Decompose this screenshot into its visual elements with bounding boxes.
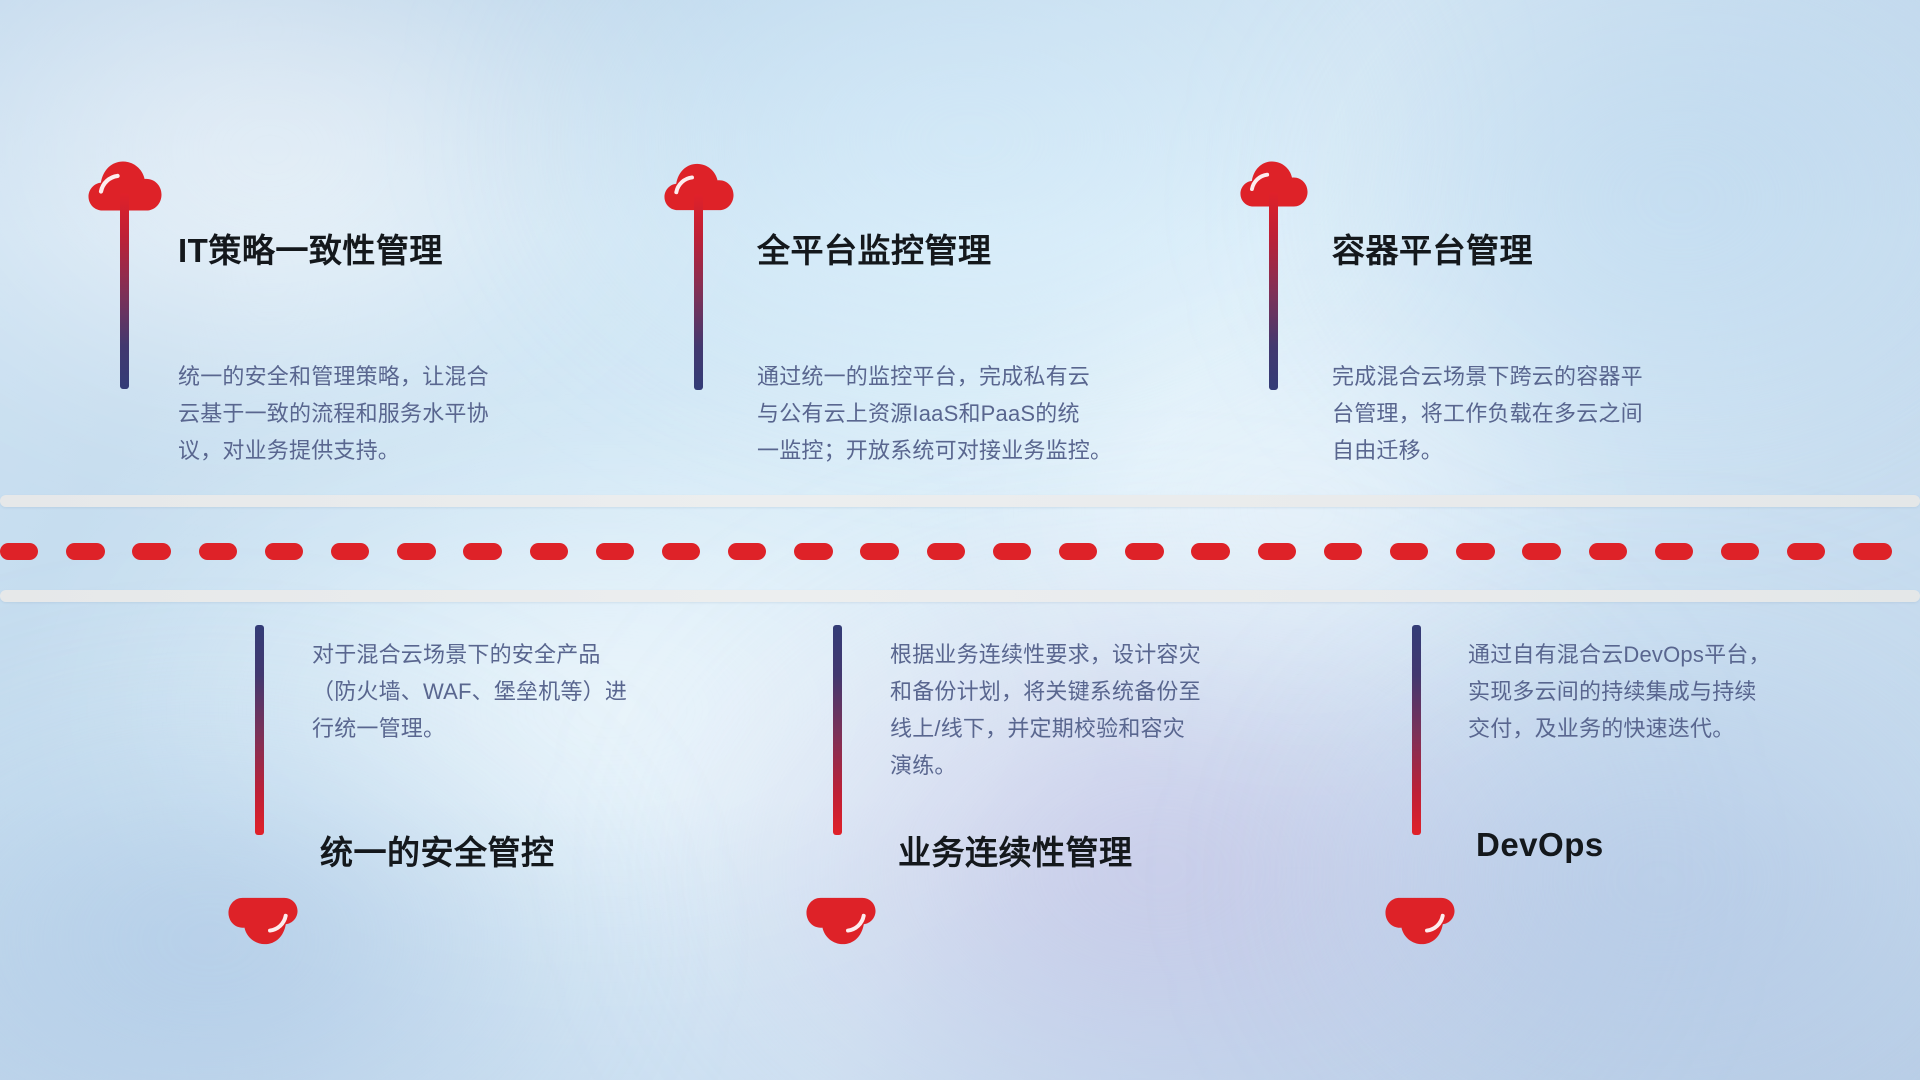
card-body: 通过统一的监控平台，完成私有云 与公有云上资源IaaS和PaaS的统 一监控；开… [757, 358, 1112, 469]
road-dash [596, 543, 634, 560]
connector-stem [694, 194, 703, 390]
road-dash [1390, 543, 1428, 560]
cloud-pin-icon [806, 896, 876, 946]
road-dash [66, 543, 104, 560]
body-line: 和备份计划，将关键系统备份至 [890, 673, 1201, 710]
body-line: 演练。 [890, 747, 1201, 784]
road-line-upper [0, 495, 1920, 507]
body-line: 通过自有混合云DevOps平台， [1468, 636, 1771, 673]
card-body: 对于混合云场景下的安全产品 （防火墙、WAF、堡垒机等）进 行统一管理。 [312, 636, 627, 747]
body-line: 线上/线下，并定期校验和容灾 [890, 710, 1201, 747]
body-line: （防火墙、WAF、堡垒机等）进 [312, 673, 627, 710]
road-dash [132, 543, 170, 560]
road-dash [530, 543, 568, 560]
body-line: 与公有云上资源IaaS和PaaS的统 [757, 395, 1112, 432]
body-line: 对于混合云场景下的安全产品 [312, 636, 627, 673]
cloud-pin-icon [228, 896, 298, 946]
road-dash [1721, 543, 1759, 560]
road-dash [1522, 543, 1560, 560]
road-dash [331, 543, 369, 560]
body-line: 根据业务连续性要求，设计容灾 [890, 636, 1201, 673]
road-line-lower [0, 590, 1920, 602]
card-body: 统一的安全和管理策略，让混合 云基于一致的流程和服务水平协 议，对业务提供支持。 [178, 358, 489, 469]
road-dash [662, 543, 700, 560]
road-dash [1589, 543, 1627, 560]
road-dash [1324, 543, 1362, 560]
card-title: 业务连续性管理 [898, 826, 1133, 874]
road-dash [794, 543, 832, 560]
connector-stem [1269, 192, 1278, 390]
body-line: 统一的安全和管理策略，让混合 [178, 358, 489, 395]
road-dash [1655, 543, 1693, 560]
connector-stem [255, 625, 264, 835]
road-dash [1258, 543, 1296, 560]
card-title: 容器平台管理 [1332, 224, 1533, 272]
road-dash [0, 543, 38, 560]
road-dashed-centerline [0, 542, 1920, 560]
road-dash [1059, 543, 1097, 560]
connector-stem [833, 625, 842, 835]
body-line: 议，对业务提供支持。 [178, 432, 489, 469]
road-dash [199, 543, 237, 560]
card-title: IT策略一致性管理 [178, 224, 443, 272]
infographic-canvas: IT策略一致性管理 统一的安全和管理策略，让混合 云基于一致的流程和服务水平协 … [0, 0, 1920, 1080]
body-line: 完成混合云场景下跨云的容器平 [1332, 358, 1643, 395]
road-dash [463, 543, 501, 560]
road-dash [1191, 543, 1229, 560]
card-body: 完成混合云场景下跨云的容器平 台管理，将工作负载在多云之间 自由迁移。 [1332, 358, 1643, 469]
road-dash [1456, 543, 1494, 560]
road-dash [860, 543, 898, 560]
card-body: 通过自有混合云DevOps平台， 实现多云间的持续集成与持续 交付，及业务的快速… [1468, 636, 1771, 747]
road-dash [993, 543, 1031, 560]
card-title: DevOps [1476, 826, 1604, 864]
connector-stem [120, 193, 129, 389]
road-dash [1787, 543, 1825, 560]
road-dash [1853, 543, 1891, 560]
cloud-pin-icon [1385, 896, 1455, 946]
card-body: 根据业务连续性要求，设计容灾 和备份计划，将关键系统备份至 线上/线下，并定期校… [890, 636, 1201, 784]
road-dash [927, 543, 965, 560]
road-dash [1125, 543, 1163, 560]
body-line: 行统一管理。 [312, 710, 627, 747]
body-line: 一监控；开放系统可对接业务监控。 [757, 432, 1112, 469]
card-title: 全平台监控管理 [757, 224, 992, 272]
road-dash [728, 543, 766, 560]
connector-stem [1412, 625, 1421, 835]
body-line: 台管理，将工作负载在多云之间 [1332, 395, 1643, 432]
body-line: 交付，及业务的快速迭代。 [1468, 710, 1771, 747]
body-line: 实现多云间的持续集成与持续 [1468, 673, 1771, 710]
road-dash [397, 543, 435, 560]
card-title: 统一的安全管控 [320, 826, 555, 874]
body-line: 云基于一致的流程和服务水平协 [178, 395, 489, 432]
body-line: 自由迁移。 [1332, 432, 1643, 469]
body-line: 通过统一的监控平台，完成私有云 [757, 358, 1112, 395]
road-dash [265, 543, 303, 560]
